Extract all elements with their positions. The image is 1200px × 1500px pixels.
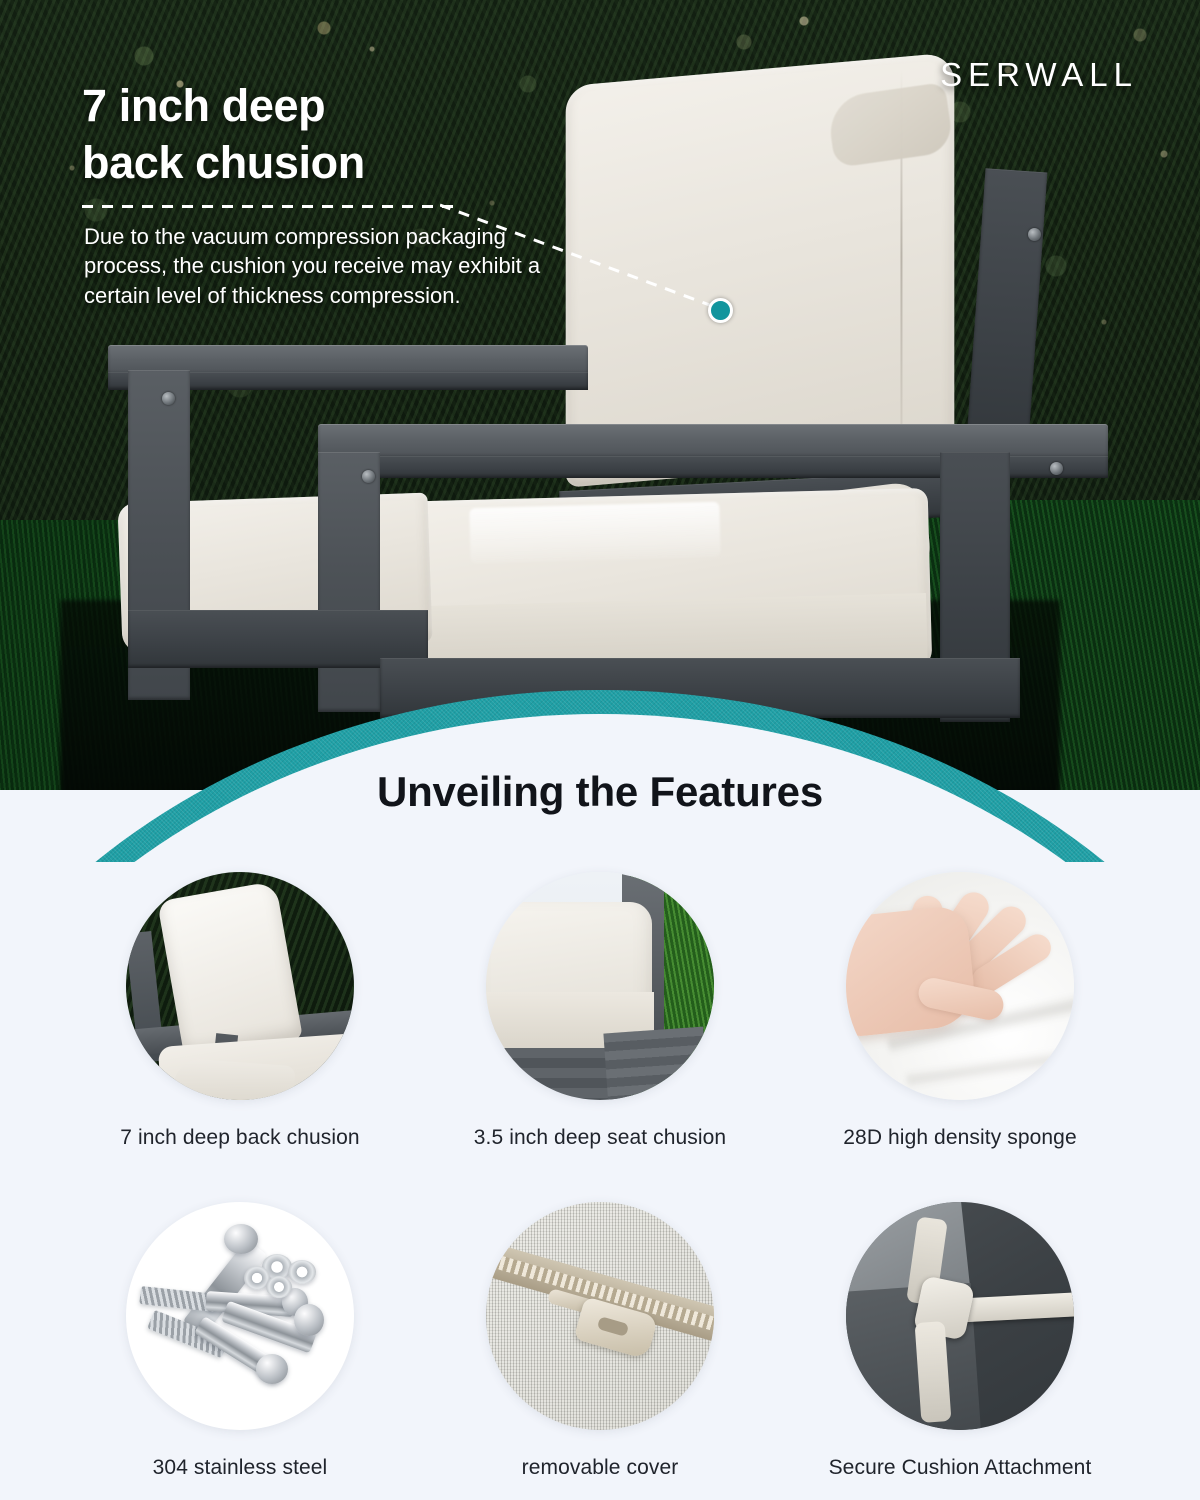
screw-icon (362, 470, 375, 483)
feature-thumbnail-seat-cushion[interactable] (486, 872, 714, 1100)
product-infographic-page: 7 inch deepback chusion Due to the vacuu… (0, 0, 1200, 1500)
feature-caption: 28D high density sponge (843, 1126, 1076, 1150)
screw-icon (1028, 228, 1041, 241)
feature-caption: 7 inch deep back chusion (120, 1126, 359, 1150)
hero-title-dashed-rule (82, 205, 454, 208)
hero-body-text: Due to the vacuum compression packaging … (84, 222, 559, 310)
feature-item-back-cushion[interactable]: 7 inch deep back chusion (60, 872, 420, 1150)
feature-item-cushion-attachment[interactable]: Secure Cushion Attachment (780, 1202, 1140, 1480)
feature-item-seat-cushion[interactable]: 3.5 inch deep seat chusion (420, 872, 780, 1150)
feature-item-sponge[interactable]: 28D high density sponge (780, 872, 1140, 1150)
feature-thumbnail-stainless-steel[interactable] (126, 1202, 354, 1430)
feature-thumbnail-sponge[interactable] (846, 872, 1074, 1100)
feature-thumbnail-cushion-attachment[interactable] (846, 1202, 1074, 1430)
seat-cushion-highlight (469, 502, 720, 564)
feature-caption: 304 stainless steel (153, 1456, 328, 1480)
teal-arc-divider (0, 640, 1200, 870)
hero-title: 7 inch deepback chusion (82, 78, 552, 191)
feature-item-stainless-steel[interactable]: 304 stainless steel (60, 1202, 420, 1480)
feature-caption: Secure Cushion Attachment (829, 1456, 1092, 1480)
callout-hotspot-dot (708, 298, 733, 323)
features-grid: 7 inch deep back chusion 3.5 inch deep s… (60, 872, 1140, 1480)
screw-icon (1050, 462, 1063, 475)
feature-caption: removable cover (522, 1456, 679, 1480)
feature-thumbnail-removable-cover[interactable] (486, 1202, 714, 1430)
feature-thumbnail-back-cushion[interactable] (126, 872, 354, 1100)
feature-caption: 3.5 inch deep seat chusion (474, 1126, 726, 1150)
features-heading: Unveiling the Features (0, 768, 1200, 816)
brand-logo: SERWALL (940, 56, 1138, 94)
feature-item-removable-cover[interactable]: removable cover (420, 1202, 780, 1480)
screw-icon (162, 392, 175, 405)
